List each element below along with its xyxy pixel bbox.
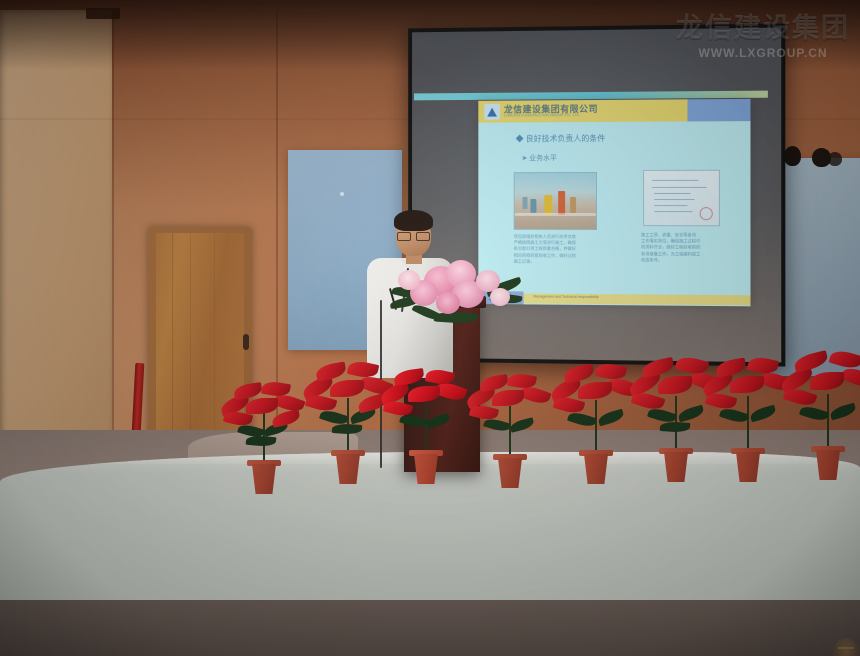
photograph-scene: 龙信建设集团有限公司 LONGXIN CONSTRUCTION GROUP CO…	[0, 0, 860, 656]
flower-arrangement	[390, 258, 524, 334]
audience-head	[828, 152, 842, 166]
glasses-icon	[397, 232, 430, 239]
poinsettia-plant	[780, 346, 860, 466]
poinsettia-plant	[216, 368, 312, 488]
door-handle-icon[interactable]	[243, 334, 249, 350]
poinsettia-plant	[378, 358, 474, 478]
speaker-hair	[394, 210, 433, 231]
ceiling-fixture	[86, 8, 120, 19]
poinsettia-plant	[462, 362, 558, 482]
audience-head	[784, 146, 801, 166]
floor-foreground	[0, 600, 860, 656]
